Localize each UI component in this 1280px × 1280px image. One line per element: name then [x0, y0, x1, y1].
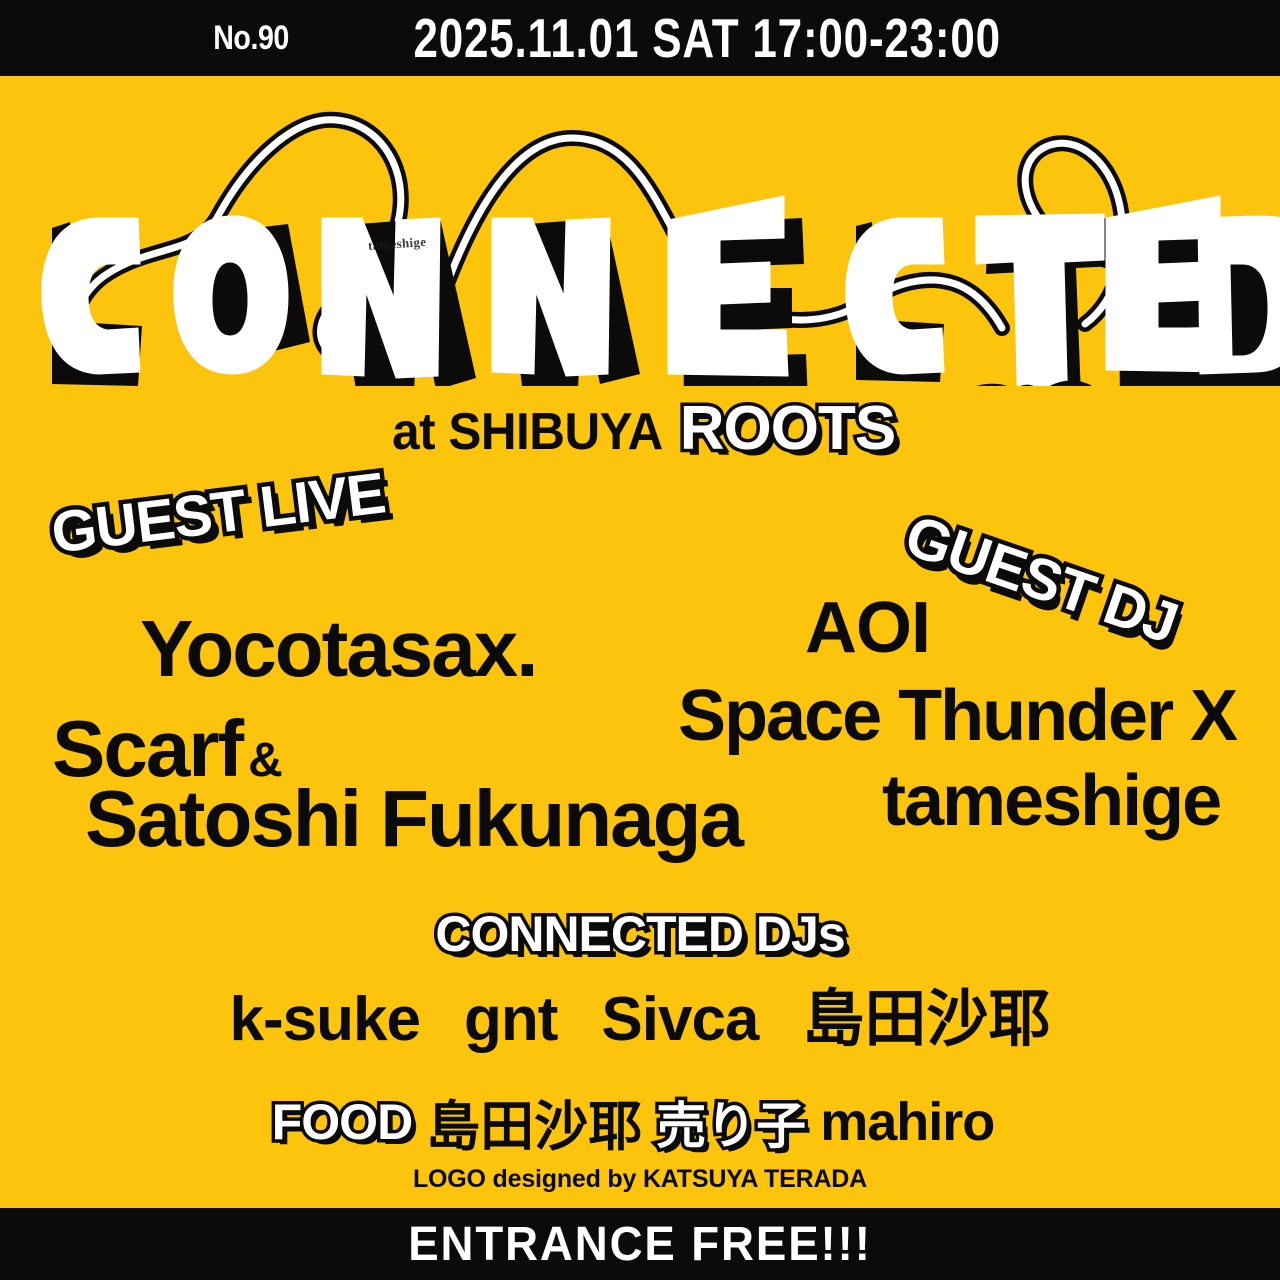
food-label: FOOD [272, 1093, 412, 1151]
guest-dj-act-1: AOI [805, 592, 930, 665]
food-vendor-row: FOOD島田沙耶売り子mahiro [0, 1082, 1280, 1161]
top-info-bar: No.90 2025.11.01 SAT 17:00-23:00 [0, 0, 1280, 76]
guest-dj-act-3: tameshige [882, 765, 1220, 838]
connected-dj-name: 島田沙耶 [802, 968, 1050, 1058]
connected-dj-name: gnt [464, 984, 557, 1055]
audio-jack-plug-icon [888, 384, 1106, 386]
vendor-name: mahiro [820, 1091, 994, 1153]
guest-dj-act-2: Space Thunder X [678, 680, 1236, 753]
guest-live-column: GUEST LIVE Yocotasax. Scarf& Satoshi Fuk… [30, 500, 770, 567]
entrance-fee: ENTRANCE FREE!!! [408, 1217, 872, 1272]
guest-live-badge: GUEST LIVE [48, 459, 388, 566]
event-datetime: 2025.11.01 SAT 17:00-23:00 [413, 6, 1001, 70]
connected-logo-artwork [0, 76, 1280, 386]
logo-credit: LOGO designed by KATSUYA TERADA [0, 1165, 1280, 1194]
connected-dj-name: k-suke [230, 984, 420, 1055]
bottom-info-bar: ENTRANCE FREE!!! [0, 1208, 1280, 1280]
venue-name: ROOTS [680, 393, 895, 464]
venue-prefix: at SHIBUYA [392, 402, 663, 462]
connected-djs-list: k-sukegntSivca島田沙耶 [0, 968, 1280, 1058]
guest-live-act-1: Yocotasax. [140, 608, 536, 690]
connected-djs-title: CONNECTED DJs [435, 905, 844, 963]
guest-dj-column: GUEST DJ AOI Space Thunder X tameshige [660, 500, 1270, 567]
vendor-label: 売り子 [656, 1086, 806, 1158]
event-flyer: No.90 2025.11.01 SAT 17:00-23:00 [0, 0, 1280, 1280]
connected-djs-heading: CONNECTED DJs [0, 905, 1280, 963]
connected-logo: tameshige [0, 76, 1280, 386]
issue-number: No.90 [213, 19, 289, 58]
venue-line: at SHIBUYAROOTS [0, 393, 1280, 464]
food-name: 島田沙耶 [426, 1082, 642, 1161]
guest-dj-badge: GUEST DJ [897, 502, 1186, 657]
guest-live-act-3: Satoshi Fukunaga [85, 778, 742, 860]
connected-dj-name: Sivca [601, 984, 758, 1055]
